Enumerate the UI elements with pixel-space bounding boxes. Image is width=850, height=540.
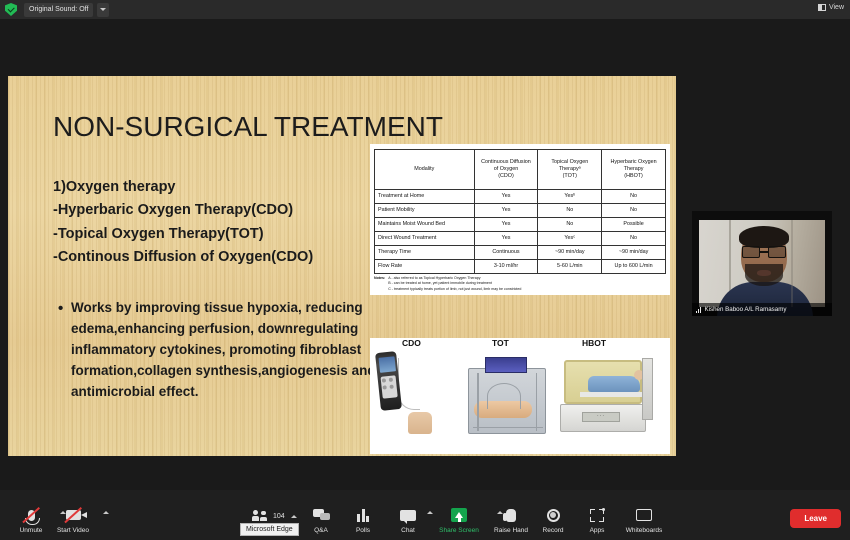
device-label-cdo: CDO [402,338,421,348]
comparison-table-panel: Modality Continuous Diffusion of Oxygen … [370,144,670,295]
leave-button[interactable]: Leave [790,509,841,528]
table-cell-tot: Yesᶜ [538,232,602,246]
table-header-row: Modality Continuous Diffusion of Oxygen … [375,150,666,190]
table-cell-hbot: No [602,232,666,246]
cdo-hand [408,412,432,434]
notes-title: Notes: [374,276,385,292]
whiteboards-button[interactable]: Whiteboards [615,507,673,534]
table-cell-modality: Flow Rate [375,260,475,274]
header-line: Hyperbaric Oxygen [603,159,664,166]
device-images-panel: CDO TOT HBOT [370,338,670,454]
share-screen-icon [451,507,467,523]
table-cell-tot: Yesᵇ [538,190,602,204]
header-line: Therapyᵃ [539,166,600,173]
qa-bubbles-icon [313,507,330,523]
section-line: -Hyperbaric Oxygen Therapy(CDO) [53,199,383,222]
table-cell-modality: Treatment at Home [375,190,475,204]
cdo-device-photo [378,352,399,410]
record-circle-icon [547,507,560,523]
section-line: -Continous Diffusion of Oxygen(CDO) [53,246,383,269]
hbot-device-photo: ··· [558,358,654,434]
table-row: Flow Rate3-10 ml/hr5-60 L/minUp to 600 L… [375,260,666,274]
slide-section-lines: 1)Oxygen therapy -Hyperbaric Oxygen Ther… [53,176,383,270]
hbot-chamber: ··· [558,358,654,434]
view-label: View [829,4,844,11]
table-cell-hbot: No [602,190,666,204]
table-cell-cdo: Yes [474,204,538,218]
chat-label: Chat [401,527,415,534]
table-cell-modality: Direct Wound Treatment [375,232,475,246]
microsoft-edge-tooltip: Microsoft Edge [240,523,299,536]
raise-hand-label: Raise Hand [494,527,528,534]
tot-tubing [487,383,521,409]
unmute-label: Unmute [20,527,43,534]
slide-bullet-list: Works by improving tissue hypoxia, reduc… [58,298,383,403]
participant-mouth [757,270,771,276]
table-cell-cdo: Yes [474,232,538,246]
share-screen-button[interactable]: Share Screen [430,507,488,534]
chat-bubble-icon [400,507,416,523]
people-icon [252,510,270,522]
hbot-control-panel: ··· [582,412,620,422]
comparison-table: Modality Continuous Diffusion of Oxygen … [374,149,666,274]
header-line: of Oxygen [476,166,537,173]
participant-name: Kishen Baboo A/L Ramasamy [704,306,786,313]
table-row: Patient MobilityYesNoNo [375,204,666,218]
table-row: Treatment at HomeYesYesᵇNo [375,190,666,204]
table-cell-tot: No [538,218,602,232]
apps-grid-icon [590,507,604,523]
microphone-muted-icon [28,507,35,523]
column-header-modality: Modality [375,150,475,190]
tot-chamber [468,368,546,434]
raise-hand-icon [506,507,516,523]
shield-check-icon [5,3,17,16]
tot-lid [485,357,527,373]
participant-hair [739,226,789,248]
video-background [699,220,825,307]
table-cell-modality: Patient Mobility [375,204,475,218]
qa-label: Q&A [314,527,328,534]
table-cell-tot: 5-60 L/min [538,260,602,274]
table-cell-cdo: Yes [474,218,538,232]
table-row: Direct Wound TreatmentYesYesᶜNo [375,232,666,246]
participant-video-tile[interactable]: Kishen Baboo A/L Ramasamy [692,211,832,316]
table-cell-cdo: 3-10 ml/hr [474,260,538,274]
table-cell-hbot: Up to 600 L/min [602,260,666,274]
note-line: C - treatment typically treats portion o… [388,287,521,292]
poll-bars-icon [357,507,370,523]
signal-bars-icon [696,307,701,313]
participant-name-bar: Kishen Baboo A/L Ramasamy [692,303,832,316]
hbot-glass-dome [564,360,642,404]
start-video-label: Start Video [57,527,89,534]
video-options-chevron-icon[interactable] [103,511,109,514]
device-label-hbot: HBOT [582,338,606,348]
header-line: (CDO) [476,173,537,180]
share-screen-label: Share Screen [439,527,479,534]
cdo-screen [378,356,395,373]
header-line: Therapy [603,166,664,173]
shared-slide[interactable]: NON-SURGICAL TREATMENT 1)Oxygen therapy … [8,76,676,456]
polls-label: Polls [356,527,370,534]
table-cell-tot: No [538,204,602,218]
header-line: Topical Oxygen [539,159,600,166]
apps-label: Apps [590,527,605,534]
top-bar: Original Sound: Off View [0,0,850,19]
table-notes: Notes: A - also referred to as Topical H… [374,276,666,292]
header-line: (HBOT) [603,173,664,180]
column-header-cdo: Continuous Diffusion of Oxygen (CDO) [474,150,538,190]
cdo-keypad [381,375,398,398]
original-sound-button[interactable]: Original Sound: Off [24,3,93,17]
table-cell-cdo: Continuous [474,246,538,260]
table-cell-modality: Maintains Moist Wound Bed [375,218,475,232]
table-row: Therapy TimeContinuous~90 min/day~90 min… [375,246,666,260]
column-header-tot: Topical Oxygen Therapyᵃ (TOT) [538,150,602,190]
table-cell-cdo: Yes [474,190,538,204]
view-button[interactable]: View [818,4,844,11]
table-row: Maintains Moist Wound BedYesNoPossible [375,218,666,232]
table-cell-hbot: No [602,204,666,218]
meeting-toolbar: Unmute Start Video 104 Microsoft Edge Q&… [0,490,850,540]
participants-count: 104 [273,513,285,520]
layout-view-icon [818,4,826,11]
section-line: -Topical Oxygen Therapy(TOT) [53,223,383,246]
camera-off-icon [66,507,81,523]
original-sound-dropdown[interactable] [97,3,109,17]
whiteboards-label: Whiteboards [626,527,663,534]
original-sound-label: Original Sound: Off [29,6,88,13]
start-video-button[interactable]: Start Video [44,507,102,534]
participants-button[interactable]: 104 [252,510,297,522]
device-label-tot: TOT [492,338,509,348]
header-line: Modality [376,166,473,173]
list-item: Works by improving tissue hypoxia, reduc… [58,298,383,403]
whiteboard-icon [636,507,652,523]
header-line: Continuous Diffusion [476,159,537,166]
hbot-bed [580,392,644,397]
table-cell-hbot: Possible [602,218,666,232]
section-line: 1)Oxygen therapy [53,176,383,199]
eyeglasses-icon [742,246,786,258]
chevron-down-icon [100,8,106,11]
hbot-door [642,358,653,420]
header-line: (TOT) [539,173,600,180]
hbot-patient [588,376,640,392]
page-title: NON-SURGICAL TREATMENT [53,111,443,143]
tot-device-photo [468,368,546,434]
table-cell-tot: ~90 min/day [538,246,602,260]
record-label: Record [543,527,564,534]
table-cell-hbot: ~90 min/day [602,246,666,260]
table-cell-modality: Therapy Time [375,246,475,260]
column-header-hbot: Hyperbaric Oxygen Therapy (HBOT) [602,150,666,190]
